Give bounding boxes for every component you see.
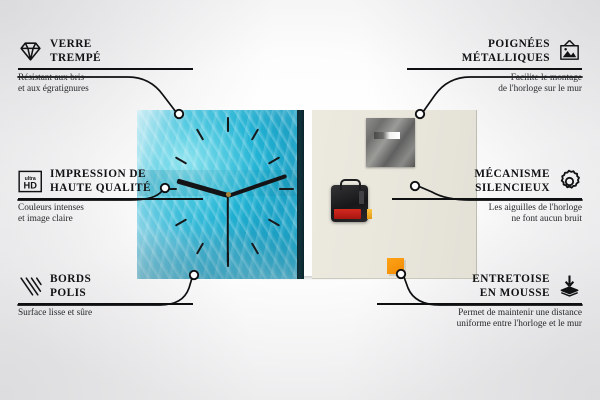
feature-subtitle-line: Facilite le montage [407,73,582,85]
feature-title: BORDS POLIS [50,273,91,300]
diamond-icon [18,39,43,64]
clock-mechanism [331,185,368,222]
feature-subtitle-line: uniforme entre l'horloge et le mur [377,319,582,331]
feature-subtitle-line: de l'horloge sur le mur [407,84,582,96]
infographic-canvas: VERRE TREMPÉ Résistant aux bris et aux é… [0,0,600,400]
foam-spacer-part [387,258,404,274]
mechanism-slot [359,191,364,204]
clock-glass-edge [297,110,304,279]
clock-tick [279,188,294,190]
polished-edges-icon [18,274,43,299]
feature-callout-verre-trempe: VERRE TREMPÉ Résistant aux bris et aux é… [18,38,193,96]
feature-subtitle-line: ne font aucun bruit [392,214,582,226]
feature-callout-mecanisme-silencieux: MÉCANISME SILENCIEUX Les aiguilles de l'… [392,168,582,226]
feature-callout-impression-haute-qualite: ultra HD IMPRESSION DE HAUTE QUALITÉ Cou… [18,168,203,226]
feature-subtitle-line: et aux égratignures [18,84,193,96]
feature-divider [18,303,193,305]
gear-icon [557,169,582,194]
feature-divider [377,303,582,305]
feature-subtitle-line: Couleurs intenses [18,203,203,215]
feature-divider [18,198,203,200]
feature-subtitle-line: Surface lisse et sûre [18,308,193,320]
feature-subtitle-line: Les aiguilles de l'horloge [392,203,582,215]
feature-heading: MÉCANISME SILENCIEUX [392,168,582,195]
foam-spacer-icon [557,274,582,299]
picture-hanger-icon [557,39,582,64]
feature-title: VERRE TREMPÉ [50,38,101,65]
feature-title: POIGNÉES MÉTALLIQUES [462,38,550,65]
feature-heading: BORDS POLIS [18,273,193,300]
metal-plate-slot [374,132,400,139]
feature-callout-bords-polis: BORDS POLIS Surface lisse et sûre [18,273,193,319]
feature-heading: VERRE TREMPÉ [18,38,193,65]
metal-hanging-plate [366,118,415,167]
feature-divider [392,198,582,200]
feature-heading: POIGNÉES MÉTALLIQUES [407,38,582,65]
feature-divider [407,68,582,70]
feature-heading: ultra HD IMPRESSION DE HAUTE QUALITÉ [18,168,203,195]
feature-title: IMPRESSION DE HAUTE QUALITÉ [50,168,151,195]
feature-heading: ENTRETOISE EN MOUSSE [377,273,582,300]
mechanism-battery [334,209,361,219]
ultra-hd-icon-large-text: HD [24,181,38,191]
battery-terminal [367,209,372,219]
feature-callout-poignees-metalliques: POIGNÉES MÉTALLIQUES Facilite le montage… [407,38,582,96]
clock-second-hand [227,195,229,263]
clock-tick [227,117,229,132]
feature-subtitle-line: Permet de maintenir une distance [377,308,582,320]
feature-subtitle-line: et image claire [18,214,203,226]
ultra-hd-icon: ultra HD [18,169,43,194]
feature-callout-entretoise-en-mousse: ENTRETOISE EN MOUSSE Permet de maintenir… [377,273,582,331]
feature-title: MÉCANISME SILENCIEUX [474,168,550,195]
mechanism-hook [340,179,361,190]
feature-title: ENTRETOISE EN MOUSSE [472,273,550,300]
feature-divider [18,68,193,70]
feature-subtitle-line: Résistant aux bris [18,73,193,85]
